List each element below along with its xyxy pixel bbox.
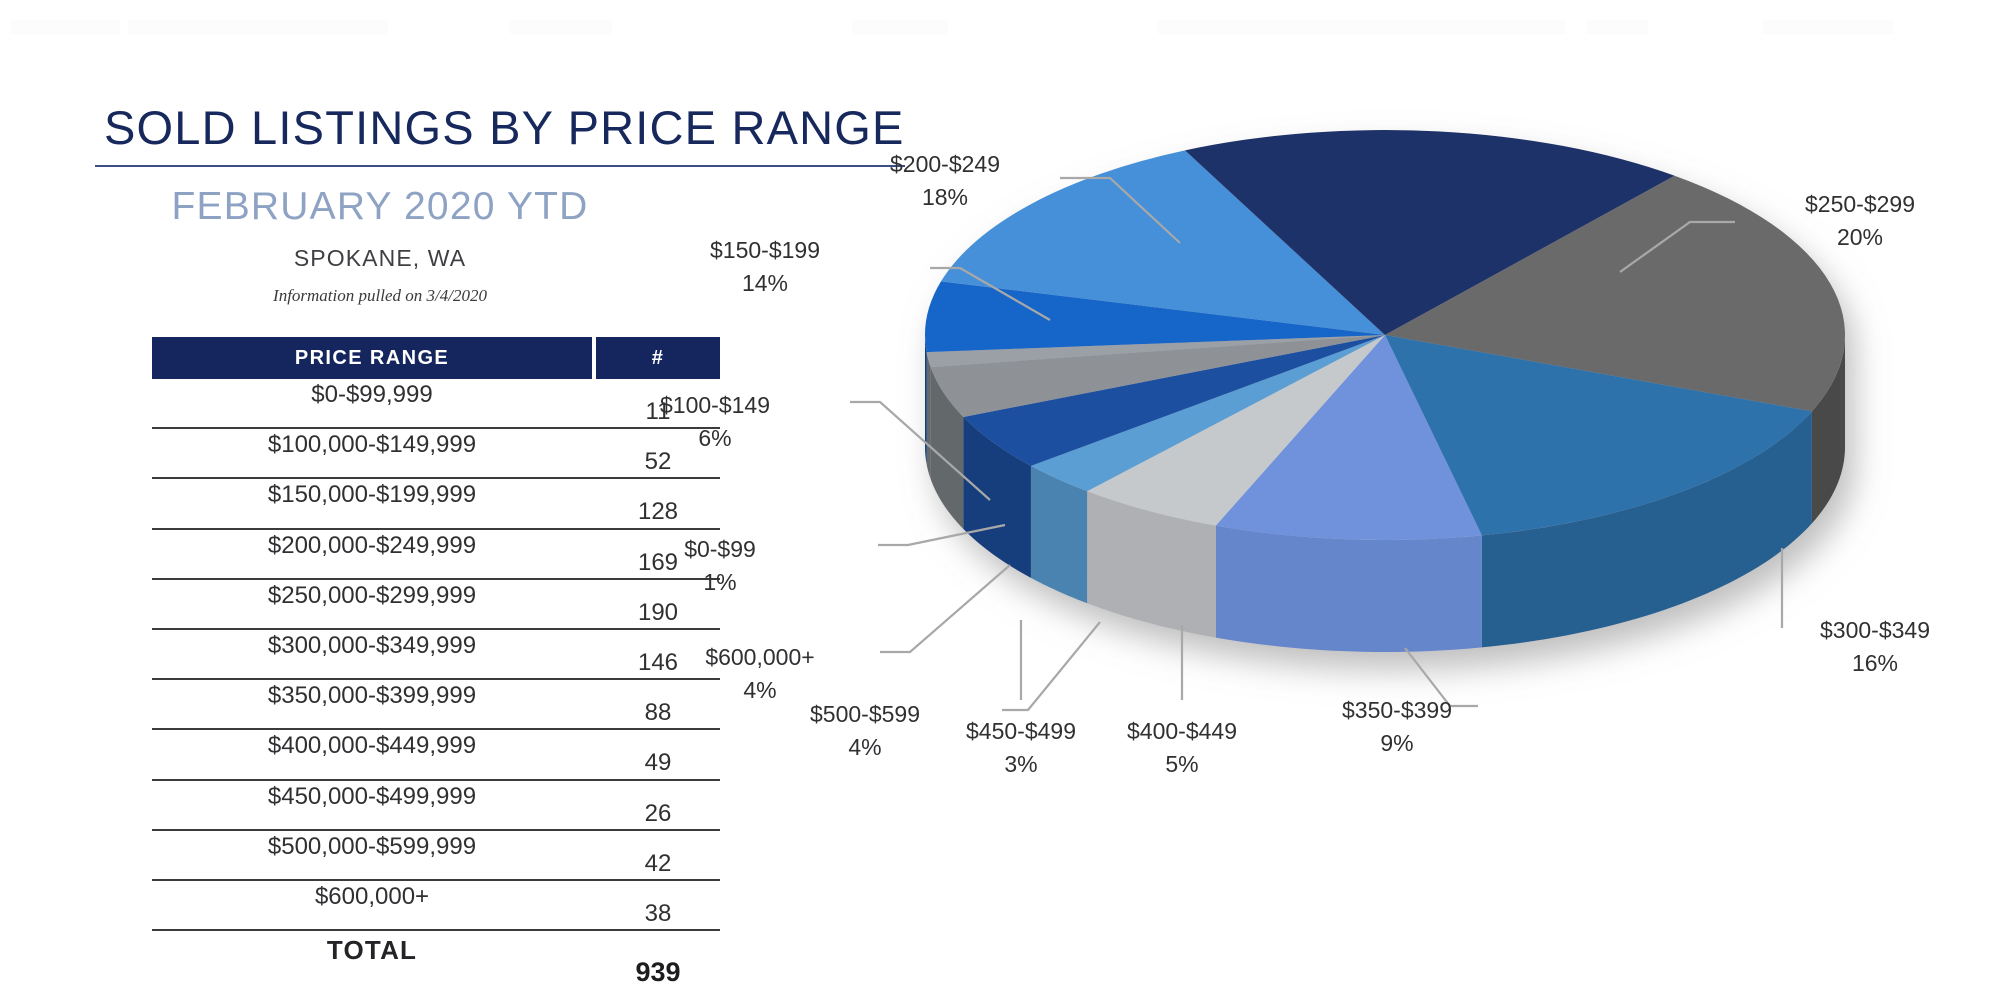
cell-price-range: $0-$99,999 (152, 381, 592, 409)
callout-label: $200-$249 (890, 151, 1000, 177)
table-row: $150,000-$199,999 128 (152, 479, 720, 529)
callout-label: $500-$599 (810, 701, 920, 727)
leader-line (1002, 622, 1100, 710)
column-header-price-range: PRICE RANGE (152, 337, 592, 379)
callout-label: $150-$199 (710, 237, 820, 263)
data-pulled-note: Information pulled on 3/4/2020 (0, 286, 760, 306)
cell-count: 128 (596, 498, 720, 526)
pie-slice-wall (925, 335, 927, 464)
left-panel: SOLD LISTINGS BY PRICE RANGE FEBRUARY 20… (0, 0, 790, 1000)
leader-line (880, 565, 1010, 652)
cell-price-range: $300,000-$349,999 (152, 632, 592, 660)
cell-total-label: TOTAL (152, 935, 592, 966)
table-row: $400,000-$449,999 49 (152, 730, 720, 780)
callout-350-399: $350-$399 9% (1282, 694, 1512, 759)
table-row: $300,000-$349,999 146 (152, 630, 720, 680)
subtitle-month: FEBRUARY 2020 YTD (0, 185, 760, 229)
column-header-count: # (596, 337, 720, 379)
table-total-row: TOTAL 939 (152, 931, 720, 989)
callout-percent: 14% (650, 267, 880, 300)
cell-price-range: $350,000-$399,999 (152, 682, 592, 710)
cell-price-range: $500,000-$599,999 (152, 833, 592, 861)
callout-200-249: $200-$249 18% (835, 148, 1055, 213)
callout-label: $400-$449 (1127, 718, 1237, 744)
pie-chart: $200-$249 18% $250-$299 20% $150-$199 14… (760, 0, 2000, 1000)
callout-label: $100-$149 (660, 392, 770, 418)
callout-percent: 20% (1745, 221, 1975, 254)
cell-price-range: $100,000-$149,999 (152, 431, 592, 459)
cell-count: 42 (596, 850, 720, 878)
callout-percent: 16% (1760, 647, 1990, 680)
cell-price-range: $200,000-$249,999 (152, 532, 592, 560)
callout-percent: 1% (625, 566, 815, 599)
subtitle-city: SPOKANE, WA (0, 245, 760, 272)
pie-slice-wall (927, 352, 931, 479)
pie-body (925, 130, 1845, 652)
table-header-row: PRICE RANGE # (152, 337, 720, 379)
callout-percent: 5% (1067, 748, 1297, 781)
callout-300-349: $300-$349 16% (1760, 614, 1990, 679)
cell-total-value: 939 (596, 957, 720, 988)
pie-slice-wall (1216, 526, 1482, 652)
cell-price-range: $250,000-$299,999 (152, 582, 592, 610)
table-row: $600,000+ 38 (152, 881, 720, 931)
callout-250-299: $250-$299 20% (1745, 188, 1975, 253)
cell-price-range: $400,000-$449,999 (152, 732, 592, 760)
callout-150-199: $150-$199 14% (650, 234, 880, 299)
callout-label: $600,000+ (705, 644, 814, 670)
callout-label: $300-$349 (1820, 617, 1930, 643)
callout-600000: $600,000+ 4% (645, 641, 875, 706)
cell-price-range: $600,000+ (152, 883, 592, 911)
cell-price-range: $450,000-$499,999 (152, 783, 592, 811)
table-row: $500,000-$599,999 42 (152, 831, 720, 881)
cell-count: 38 (596, 900, 720, 928)
callout-label: $350-$399 (1342, 697, 1452, 723)
callout-400-449: $400-$449 5% (1067, 715, 1297, 780)
cell-price-range: $150,000-$199,999 (152, 481, 592, 509)
callout-100-149: $100-$149 6% (600, 389, 830, 454)
callout-label: $0-$99 (684, 536, 756, 562)
table-row: $450,000-$499,999 26 (152, 781, 720, 831)
cell-count: 26 (596, 800, 720, 828)
callout-label: $450-$499 (966, 718, 1076, 744)
callout-percent: 9% (1282, 727, 1512, 760)
cell-count: 190 (596, 599, 720, 627)
callout-percent: 6% (600, 422, 830, 455)
callout-0-99: $0-$99 1% (625, 533, 815, 598)
table-row: $350,000-$399,999 88 (152, 680, 720, 730)
callout-label: $250-$299 (1805, 191, 1915, 217)
callout-percent: 18% (835, 181, 1055, 214)
cell-count: 49 (596, 749, 720, 777)
